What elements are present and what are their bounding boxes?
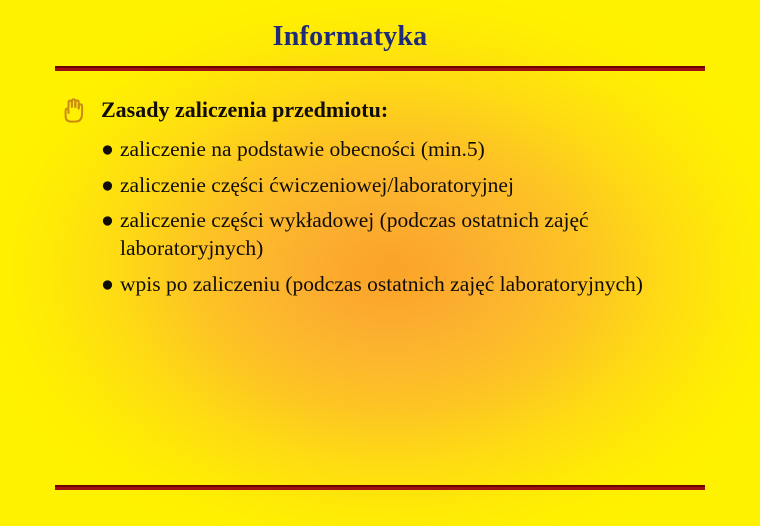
pointing-hand-icon xyxy=(61,97,87,125)
list-item-label: zaliczenie części ćwiczeniowej/laborator… xyxy=(120,172,680,200)
list-item: ● zaliczenie części wykładowej (podczas … xyxy=(0,207,760,262)
bullet-dot-icon: ● xyxy=(101,207,115,235)
list-item: ● zaliczenie na podstawie obecności (min… xyxy=(0,136,760,164)
presentation-slide: Informatyka Zasady zaliczenia przedmiotu… xyxy=(0,0,760,526)
heading-row: Zasady zaliczenia przedmiotu: xyxy=(0,96,760,130)
bullet-dot-icon: ● xyxy=(101,271,115,299)
bullet-dot-icon: ● xyxy=(101,136,115,164)
list-item: ● zaliczenie części ćwiczeniowej/laborat… xyxy=(0,172,760,200)
page-title: Informatyka xyxy=(273,22,428,53)
section-heading: Zasady zaliczenia przedmiotu: xyxy=(101,96,388,124)
bullet-list: ● zaliczenie na podstawie obecności (min… xyxy=(0,136,760,307)
list-item-label: zaliczenie części wykładowej (podczas os… xyxy=(120,207,680,262)
slide-body: Zasady zaliczenia przedmiotu: ● zaliczen… xyxy=(0,96,760,130)
bullet-dot-icon: ● xyxy=(101,172,115,200)
list-item-label: zaliczenie na podstawie obecności (min.5… xyxy=(120,136,680,164)
title-block: Informatyka xyxy=(0,22,700,53)
title-divider-rule xyxy=(55,66,705,71)
footer-divider-rule xyxy=(55,485,705,490)
list-item-label: wpis po zaliczeniu (podczas ostatnich za… xyxy=(120,271,680,299)
list-item: ● wpis po zaliczeniu (podczas ostatnich … xyxy=(0,271,760,299)
